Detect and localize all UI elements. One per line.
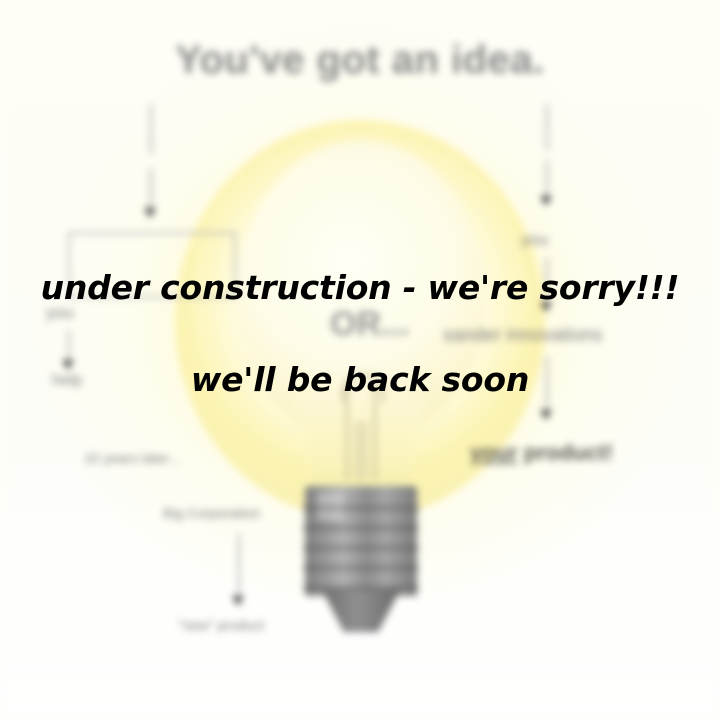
label-you-left: you — [46, 303, 73, 323]
connector-corp-to-product — [238, 534, 240, 600]
label-help: help — [52, 372, 82, 390]
filament-coil — [342, 374, 384, 402]
label-you-right: you — [521, 230, 548, 250]
bulb-base-ridge — [303, 546, 419, 550]
lightbulb-infographic: You've got an idea. you help 10 years la… — [0, 0, 720, 720]
label-product-suffix: product! — [518, 440, 613, 465]
label-your-underlined: your — [470, 440, 518, 465]
label-new-product: "new" product — [178, 617, 264, 633]
filament-wire-right — [374, 384, 376, 480]
label-big-corporation: Big Corporation — [163, 505, 260, 521]
under-construction-page: You've got an idea. you help 10 years la… — [0, 0, 720, 720]
filament-wire-left — [346, 384, 348, 480]
filament-post — [354, 422, 368, 480]
bulb-base-ridge — [303, 566, 419, 570]
infographic-title: You've got an idea. — [0, 38, 720, 83]
bulb-screw-base — [305, 486, 417, 596]
bulb-base-ridge — [303, 526, 419, 530]
arrow-down-right — [540, 196, 552, 206]
arrow-down-your-product — [540, 410, 552, 420]
connector-sander-to-product — [546, 356, 548, 414]
label-sander-innovations: sander innovations — [443, 325, 603, 347]
connector-title-to-right — [546, 104, 548, 150]
connector-you-to-sander — [546, 258, 548, 306]
arrow-down-new-product — [232, 596, 244, 606]
arrow-down-help — [62, 360, 74, 370]
bulb-base-ridge — [303, 586, 419, 590]
arrow-down-left — [144, 208, 156, 218]
label-or: OR... — [330, 305, 409, 344]
bulb-base-ridge — [303, 506, 419, 510]
left-branch-box — [68, 232, 236, 298]
label-your-product: your product! — [470, 440, 613, 466]
connector-title-to-left — [150, 104, 152, 154]
connector-title-to-left-2 — [150, 168, 152, 212]
connector-you-to-help — [68, 330, 70, 364]
bulb-filament-icon — [330, 370, 392, 480]
connector-title-to-right-2 — [546, 160, 548, 200]
arrow-down-sander — [540, 302, 552, 312]
label-years-later: 10 years later... — [84, 450, 180, 466]
